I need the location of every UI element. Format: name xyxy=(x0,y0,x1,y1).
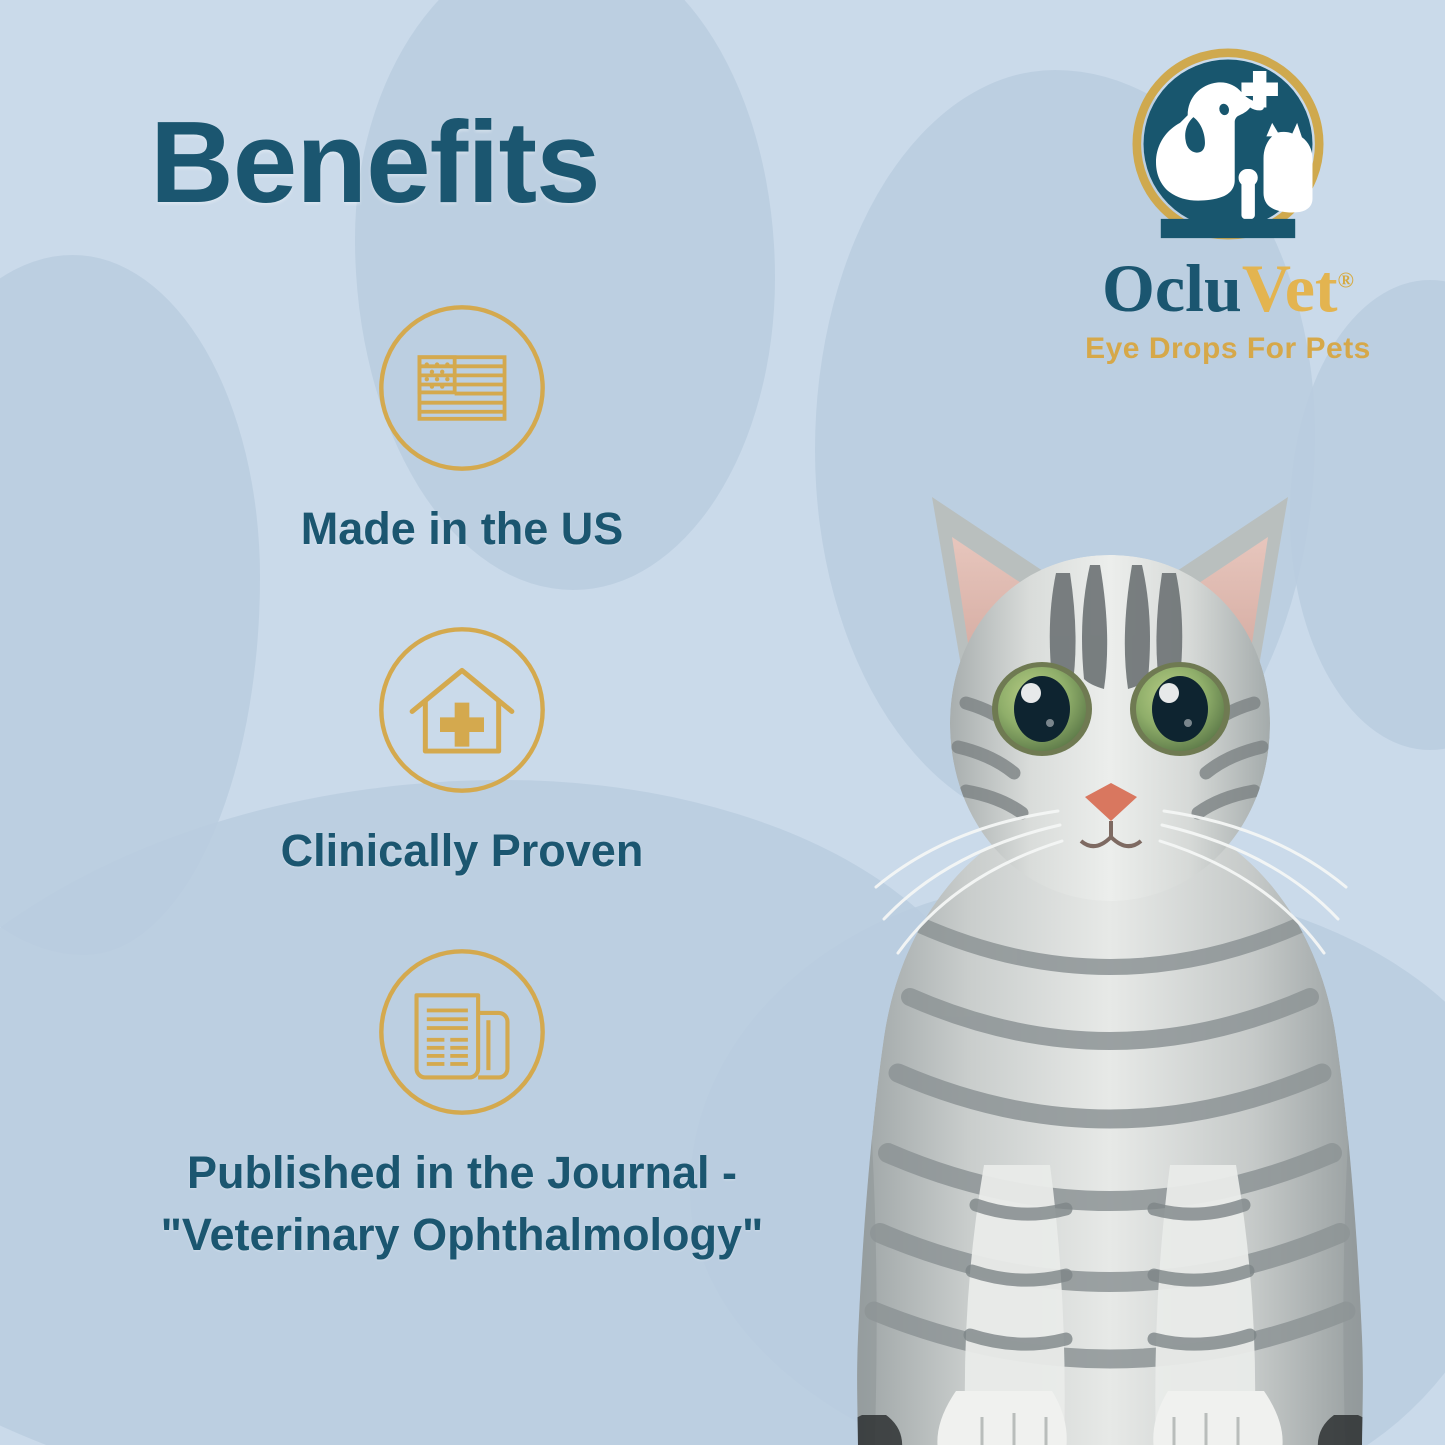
registered-trademark-icon: ® xyxy=(1338,267,1354,292)
clinic-house-cross-icon xyxy=(374,622,550,798)
benefits-list: Made in the US Clinically Proven xyxy=(92,300,832,1266)
brand-name-part-1: Oclu xyxy=(1102,250,1242,326)
brand-tagline: Eye Drops For Pets xyxy=(1048,332,1408,366)
benefit-label-line-1: Made in the US xyxy=(301,503,624,554)
benefit-label-line-1: Clinically Proven xyxy=(281,825,644,876)
brand-block: OcluVet® Eye Drops For Pets xyxy=(1048,48,1408,366)
benefit-item: Clinically Proven xyxy=(92,622,832,882)
brand-name-part-2: Vet xyxy=(1242,250,1338,326)
brand-wordmark: OcluVet® xyxy=(1048,254,1408,322)
page-title: Benefits xyxy=(150,104,600,220)
benefit-label: Published in the Journal - "Veterinary O… xyxy=(92,1142,832,1266)
benefit-label-line-1: Published in the Journal - xyxy=(187,1147,737,1198)
dog-cat-bird-medical-circle-logo xyxy=(1132,48,1324,240)
benefit-label: Made in the US xyxy=(92,498,832,560)
benefit-label: Clinically Proven xyxy=(92,820,832,882)
benefits-infographic: Benefits xyxy=(0,0,1445,1445)
benefit-label-line-2: "Veterinary Ophthalmology" xyxy=(92,1204,832,1266)
benefit-item: Made in the US xyxy=(92,300,832,560)
cat-photo xyxy=(770,405,1445,1445)
benefit-item: Published in the Journal - "Veterinary O… xyxy=(92,944,832,1266)
newspaper-journal-icon xyxy=(374,944,550,1120)
us-flag-icon xyxy=(374,300,550,476)
